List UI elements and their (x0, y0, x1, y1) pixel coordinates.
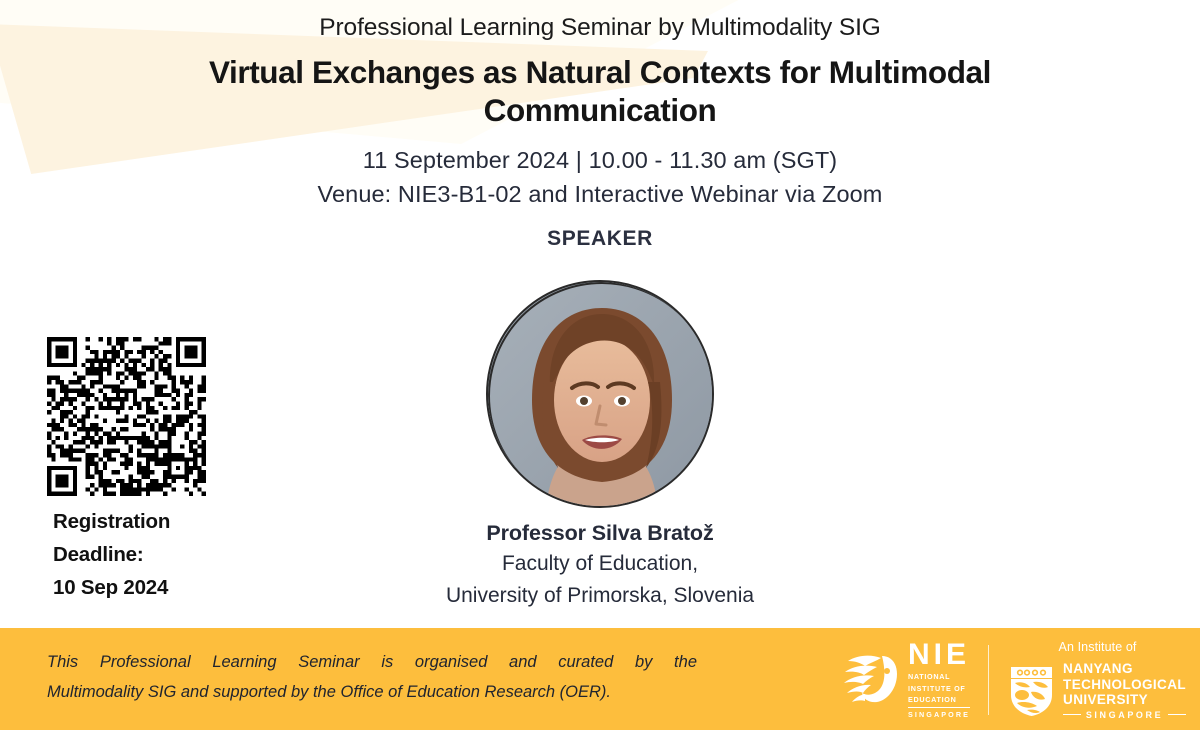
ntu-crest-icon (1009, 665, 1054, 717)
header-block: Professional Learning Seminar by Multimo… (0, 0, 1200, 251)
an-institute-of-label: An Institute of (1059, 640, 1137, 654)
qr-code-image (47, 337, 206, 496)
footer-credit-text: This Professional Learning Seminar is or… (47, 647, 697, 707)
nie-logo: NIE NATIONAL INSTITUTE OF EDUCATION SING… (841, 641, 988, 718)
page-title: Virtual Exchanges as Natural Contexts fo… (0, 53, 1200, 130)
footer-line2: Multimodality SIG and supported by the O… (47, 677, 697, 707)
nie-lion-flame-icon (841, 652, 903, 708)
ntu-country: SINGAPORE (1086, 710, 1163, 720)
avatar (486, 280, 714, 508)
deadline-line2: Deadline: (53, 538, 293, 571)
ntu-rule-right (1168, 714, 1186, 715)
venue-text: Venue: NIE3-B1-02 and Interactive Webina… (0, 181, 1200, 208)
ntu-rule-left (1063, 714, 1081, 715)
ntu-line3: UNIVERSITY (1063, 692, 1186, 708)
nie-subtitle-line2: INSTITUTE OF (908, 684, 966, 694)
deadline-line3: 10 Sep 2024 (53, 571, 293, 604)
speaker-section-label: SPEAKER (0, 227, 1200, 251)
seminar-poster: Professional Learning Seminar by Multimo… (0, 0, 1200, 730)
registration-deadline: Registration Deadline: 10 Sep 2024 (53, 505, 293, 605)
nie-subtitle-line3: EDUCATION (908, 695, 957, 705)
datetime-text: 11 September 2024 | 10.00 - 11.30 am (SG… (0, 147, 1200, 174)
nie-country: SINGAPORE (908, 707, 970, 719)
ntu-logo: An Institute of (989, 640, 1186, 720)
deadline-line1: Registration (53, 505, 293, 538)
nie-acronym: NIE (908, 641, 970, 670)
registration-qr-code[interactable] (47, 337, 206, 496)
ntu-wordmark: NANYANG TECHNOLOGICAL UNIVERSITY SINGAPO… (1063, 661, 1186, 720)
nie-subtitle-line1: NATIONAL (908, 672, 950, 682)
footer-logos: NIE NATIONAL INSTITUTE OF EDUCATION SING… (841, 638, 1186, 722)
ntu-line1: NANYANG (1063, 661, 1186, 677)
kicker-text: Professional Learning Seminar by Multimo… (0, 14, 1200, 42)
footer-line1: This Professional Learning Seminar is or… (47, 647, 697, 677)
footer-band: This Professional Learning Seminar is or… (0, 628, 1200, 730)
portrait-illustration (488, 282, 714, 508)
ntu-line2: TECHNOLOGICAL (1063, 677, 1186, 693)
speaker-photo (486, 280, 714, 508)
nie-wordmark: NIE NATIONAL INSTITUTE OF EDUCATION SING… (908, 641, 970, 718)
